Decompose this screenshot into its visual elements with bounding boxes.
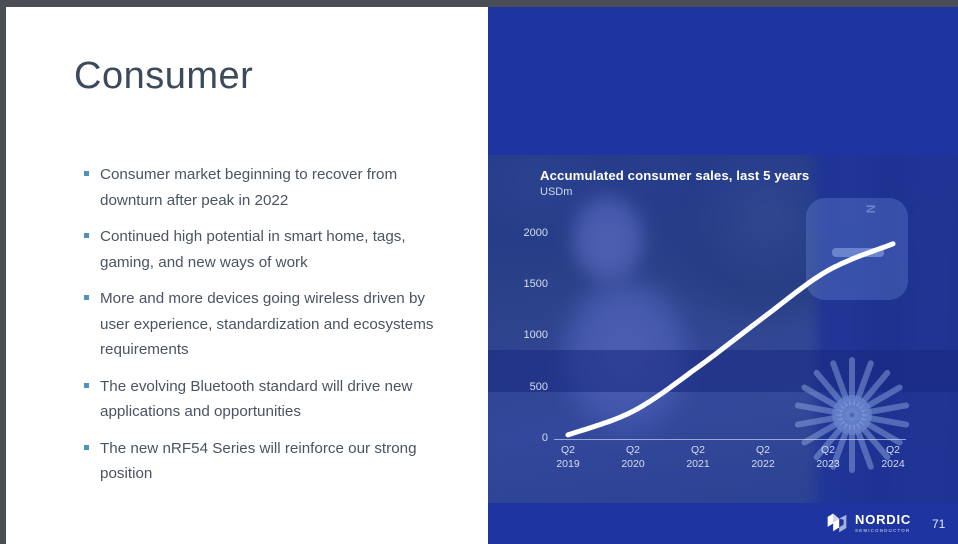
brand-name: NORDIC: [855, 513, 911, 526]
slide-right-visual-panel: N: [488, 7, 958, 544]
list-item-text: The new nRF54 Series will reinforce our …: [100, 436, 454, 487]
list-item-text: Consumer market beginning to recover fro…: [100, 162, 454, 213]
bullet-square-icon: [84, 233, 89, 238]
bullet-list: Consumer market beginning to recover fro…: [84, 162, 454, 498]
line-chart: Accumulated consumer sales, last 5 years…: [488, 155, 958, 503]
nordic-logo-text: NORDIC SEMICONDUCTOR: [855, 513, 911, 534]
nordic-cube-logo-icon: [826, 512, 848, 534]
list-item-text: More and more devices going wireless dri…: [100, 286, 454, 363]
list-item-text: Continued high potential in smart home, …: [100, 224, 454, 275]
page-number: 71: [932, 517, 945, 531]
list-item: Consumer market beginning to recover fro…: [84, 162, 454, 213]
screenshot-canvas: Consumer Consumer market beginning to re…: [0, 0, 958, 544]
bullet-square-icon: [84, 383, 89, 388]
bullet-square-icon: [84, 295, 89, 300]
list-item: More and more devices going wireless dri…: [84, 286, 454, 363]
list-item-text: The evolving Bluetooth standard will dri…: [100, 374, 454, 425]
chart-plot-area: [488, 155, 958, 503]
list-item: Continued high potential in smart home, …: [84, 224, 454, 275]
list-item: The evolving Bluetooth standard will dri…: [84, 374, 454, 425]
chart-series-line: [568, 244, 893, 435]
bullet-square-icon: [84, 445, 89, 450]
slide-footer: NORDIC SEMICONDUCTOR 71: [488, 503, 958, 544]
brand-subtitle: SEMICONDUCTOR: [855, 527, 911, 534]
list-item: The new nRF54 Series will reinforce our …: [84, 436, 454, 487]
bullet-square-icon: [84, 171, 89, 176]
nordic-logo: NORDIC SEMICONDUCTOR: [826, 512, 911, 534]
presentation-slide: Consumer Consumer market beginning to re…: [6, 7, 958, 544]
page-title: Consumer: [74, 55, 253, 98]
slide-left-content-panel: Consumer Consumer market beginning to re…: [6, 7, 488, 544]
